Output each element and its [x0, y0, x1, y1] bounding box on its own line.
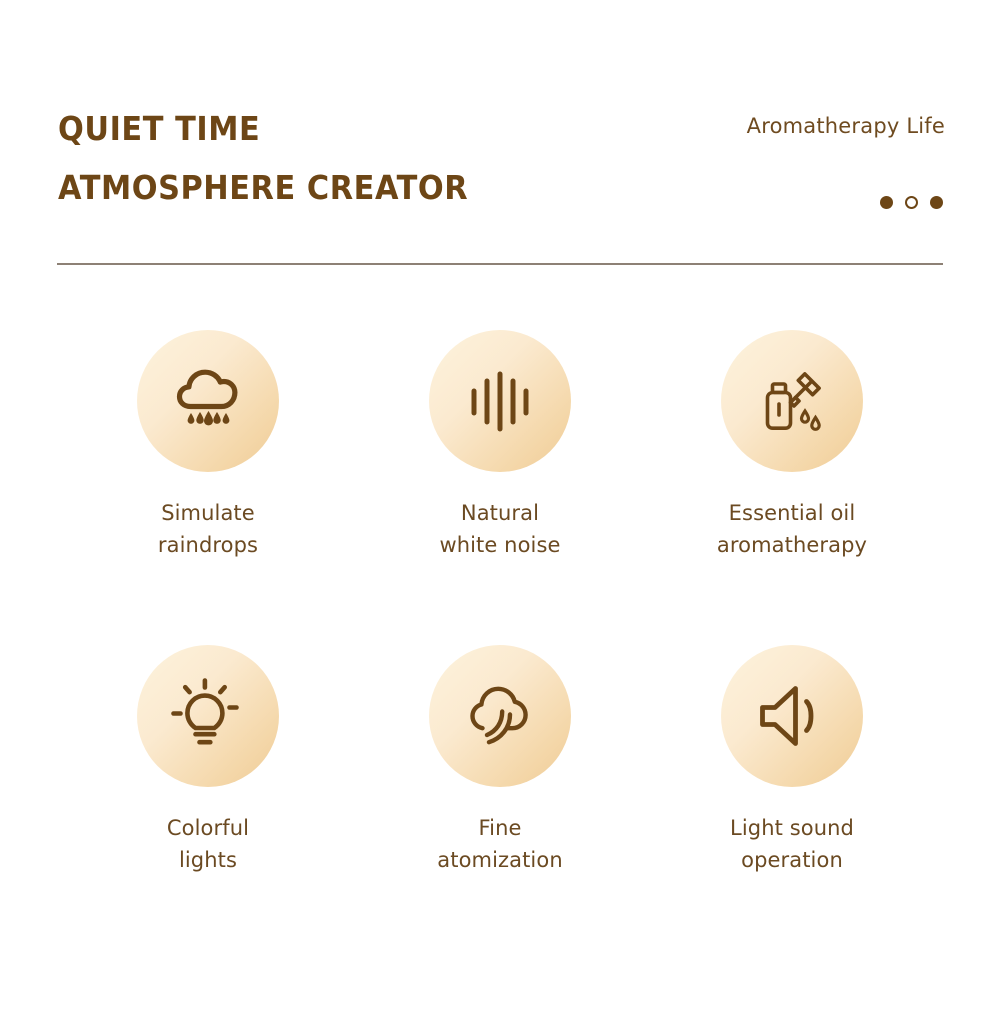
- feature-item: Simulate raindrops: [62, 330, 354, 561]
- feature-caption-line-1: Simulate: [158, 498, 258, 530]
- feature-caption-line-1: Light sound: [730, 813, 854, 845]
- feature-caption: Essential oil aromatherapy: [717, 498, 867, 561]
- feature-caption-line-2: white noise: [439, 530, 560, 562]
- tagline: Aromatherapy Life: [747, 114, 945, 138]
- feature-caption: Fine atomization: [437, 813, 562, 876]
- feature-icon-badge: [137, 645, 279, 787]
- feature-item: Colorful lights: [62, 645, 354, 876]
- feature-caption: Simulate raindrops: [158, 498, 258, 561]
- dot-indicator-1: [880, 196, 893, 209]
- dot-indicator-3: [930, 196, 943, 209]
- rain-cloud-icon: [166, 359, 250, 443]
- feature-row-2: Colorful lights: [0, 645, 1000, 876]
- feature-caption-line-2: atomization: [437, 845, 562, 877]
- feature-caption: Natural white noise: [439, 498, 560, 561]
- title-line-1: QUIET TIME: [58, 112, 647, 145]
- feature-caption-line-2: lights: [167, 845, 249, 877]
- title-line-2: ATMOSPHERE CREATOR: [58, 171, 647, 204]
- feature-caption-line-1: Essential oil: [717, 498, 867, 530]
- feature-icon-badge: [429, 330, 571, 472]
- feature-icon-badge: [137, 330, 279, 472]
- feature-item: Natural white noise: [354, 330, 646, 561]
- oil-bottle-dropper-icon: [750, 359, 834, 443]
- mist-cloud-icon: [458, 674, 542, 758]
- feature-caption-line-2: raindrops: [158, 530, 258, 562]
- feature-row-1: Simulate raindrops: [0, 330, 1000, 561]
- dot-indicator-group: [880, 196, 943, 209]
- feature-item: Essential oil aromatherapy: [646, 330, 938, 561]
- feature-caption: Light sound operation: [730, 813, 854, 876]
- feature-caption-line-2: operation: [730, 845, 854, 877]
- feature-icon-badge: [429, 645, 571, 787]
- page-title: QUIET TIME ATMOSPHERE CREATOR: [58, 112, 698, 204]
- feature-caption-line-2: aromatherapy: [717, 530, 867, 562]
- feature-icon-badge: [721, 330, 863, 472]
- dot-indicator-2: [905, 196, 918, 209]
- feature-icon-badge: [721, 645, 863, 787]
- feature-caption-line-1: Natural: [439, 498, 560, 530]
- feature-caption-line-1: Fine: [437, 813, 562, 845]
- sound-wave-bars-icon: [458, 359, 542, 443]
- header-divider: [57, 263, 943, 265]
- feature-caption: Colorful lights: [167, 813, 249, 876]
- speaker-volume-icon: [750, 674, 834, 758]
- feature-caption-line-1: Colorful: [167, 813, 249, 845]
- feature-item: Light sound operation: [646, 645, 938, 876]
- promo-feature-page: QUIET TIME ATMOSPHERE CREATOR Aromathera…: [0, 0, 1000, 1009]
- page-header: QUIET TIME ATMOSPHERE CREATOR Aromathera…: [0, 0, 1000, 270]
- feature-grid: Simulate raindrops: [0, 330, 1000, 876]
- feature-item: Fine atomization: [354, 645, 646, 876]
- light-bulb-icon: [166, 674, 250, 758]
